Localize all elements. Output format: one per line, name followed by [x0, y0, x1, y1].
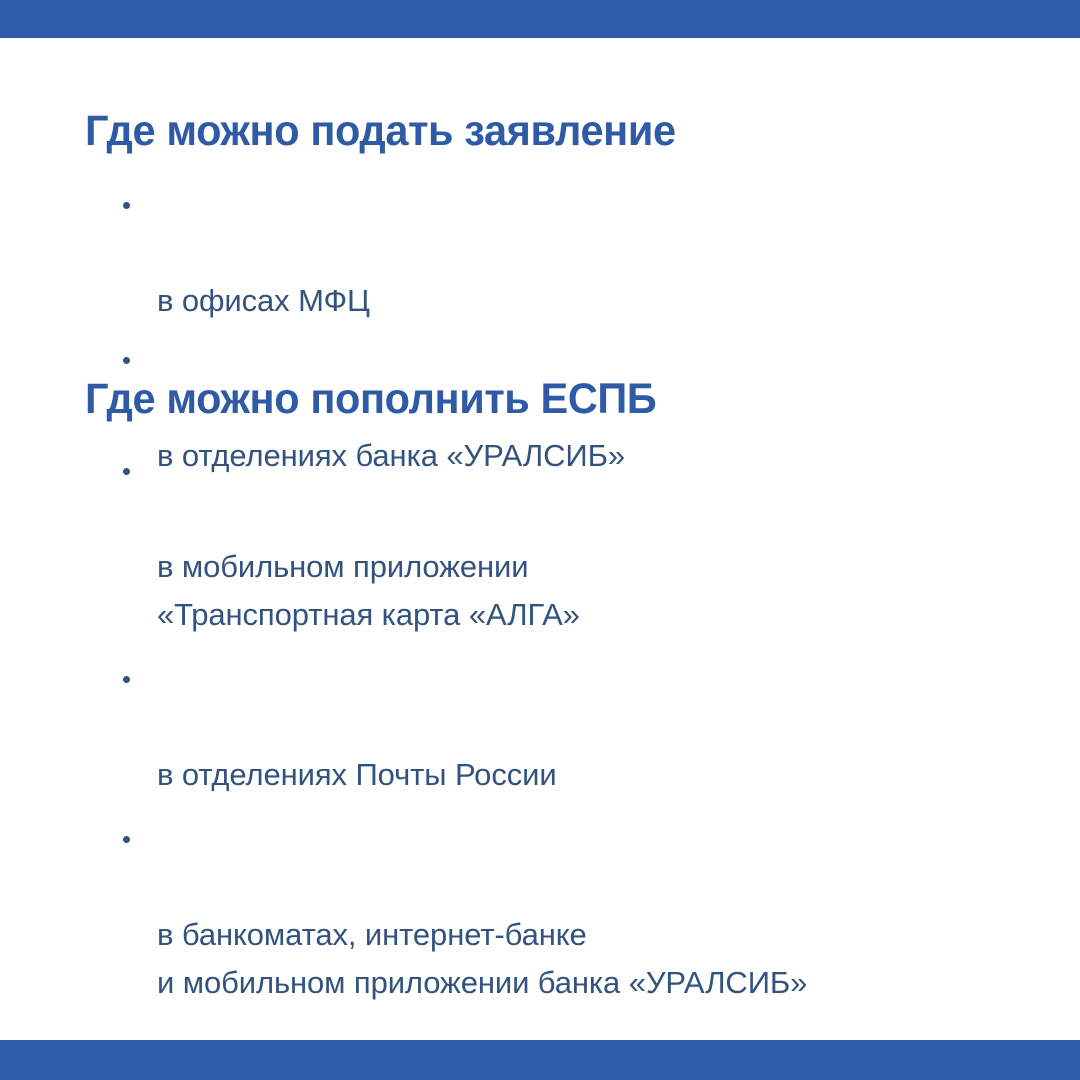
list-item-label: в банкоматах, интернет-банке и мобильном…: [157, 917, 807, 1000]
top-accent-bar: [0, 0, 1080, 38]
bullet-dot-icon: [123, 836, 130, 843]
bottom-accent-bar: [0, 1040, 1080, 1080]
bullet-list-topup: в мобильном приложении «Транспортная кар…: [0, 447, 1080, 1007]
section-topup-locations: Где можно пополнить ЕСПБ в мобильном при…: [0, 378, 1080, 1007]
section-heading-topup: Где можно пополнить ЕСПБ: [85, 378, 1045, 421]
bullet-dot-icon: [123, 357, 130, 364]
list-item: в офисах МФЦ: [0, 181, 1080, 325]
list-item: в мобильном приложении «Транспортная кар…: [0, 447, 1080, 639]
bullet-dot-icon: [123, 676, 130, 683]
bullet-dot-icon: [123, 468, 130, 475]
list-item-label: в отделениях Почты России: [157, 757, 557, 792]
list-item: в отделениях Почты России: [0, 655, 1080, 799]
slide-root: Где можно подать заявление в офисах МФЦ …: [0, 0, 1080, 1080]
list-item-label: в мобильном приложении «Транспортная кар…: [157, 549, 580, 632]
list-item: в банкоматах, интернет-банке и мобильном…: [0, 815, 1080, 1007]
slide-content: Где можно подать заявление в офисах МФЦ …: [0, 38, 1080, 1040]
bullet-dot-icon: [123, 202, 130, 209]
list-item-label: в офисах МФЦ: [157, 283, 370, 318]
section-heading-apply: Где можно подать заявление: [85, 110, 1045, 153]
